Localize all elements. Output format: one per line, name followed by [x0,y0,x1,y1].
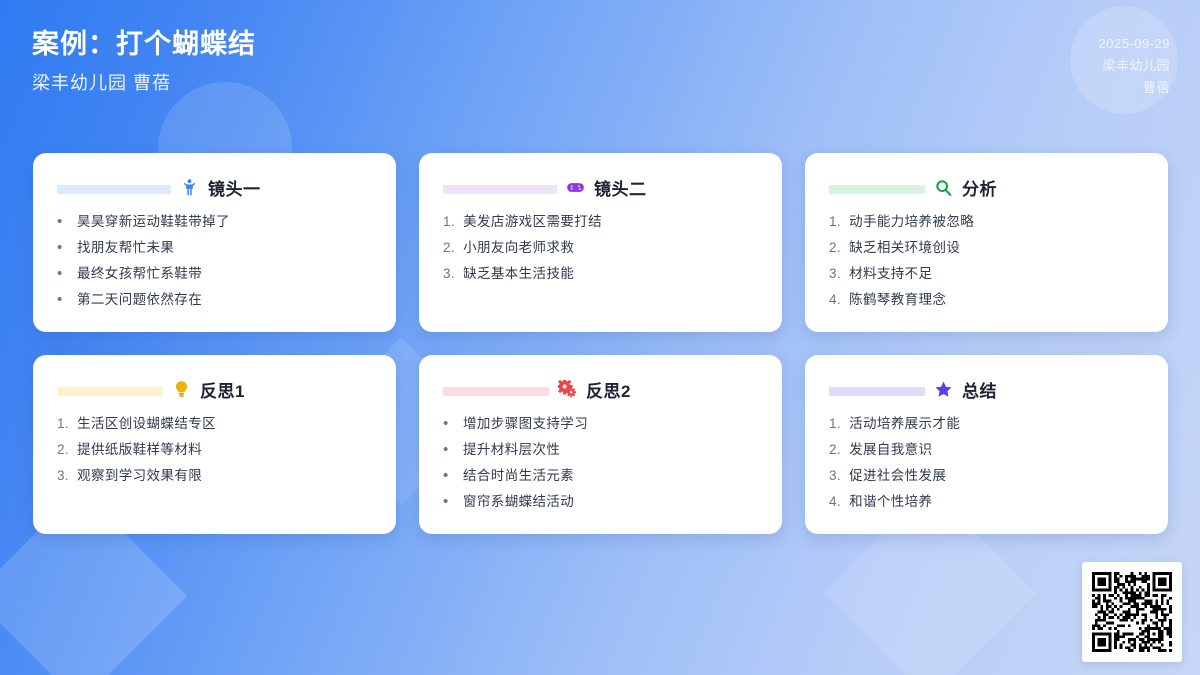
lightbulb-icon [172,380,191,399]
number-marker: 2. [829,442,841,458]
list-item-text: 和谐个性培养 [849,494,932,510]
card-title-highlight [57,185,171,194]
card-反思2: 反思2•增加步骤图支持学习•提升材料层次性•结合时尚生活元素•窗帘系蝴蝶结活动 [419,355,782,534]
bullet-marker: • [443,442,455,458]
card-title: 反思2 [586,377,631,402]
card-list: 1.活动培养展示才能2.发展自我意识3.促进社会性发展4.和谐个性培养 [829,416,1144,510]
list-item: 2.缺乏相关环境创设 [829,240,1144,256]
star-icon [934,380,953,399]
list-item-text: 活动培养展示才能 [849,416,960,432]
list-item-text: 发展自我意识 [849,442,932,458]
list-item: •最终女孩帮忙系鞋带 [57,266,372,282]
card-title: 反思1 [200,377,245,402]
header-meta: 2025-09-29 梁丰幼儿园 曹蓓 [1099,33,1171,99]
bullet-marker: • [57,292,69,308]
list-item: 2.提供纸版鞋样等材料 [57,442,372,458]
list-item-text: 小朋友向老师求救 [463,240,574,256]
card-镜头一: 镜头一•昊昊穿新运动鞋鞋带掉了•找朋友帮忙未果•最终女孩帮忙系鞋带•第二天问题依… [33,153,396,332]
list-item-text: 观察到学习效果有限 [77,468,202,484]
bullet-marker: • [57,266,69,282]
meta-author: 曹蓓 [1099,77,1171,99]
list-item: 3.观察到学习效果有限 [57,468,372,484]
list-item: 2.发展自我意识 [829,442,1144,458]
card-list: 1.美发店游戏区需要打结2.小朋友向老师求救3.缺乏基本生活技能 [443,214,758,282]
number-marker: 1. [443,214,455,230]
bullet-marker: • [443,494,455,510]
card-list: •增加步骤图支持学习•提升材料层次性•结合时尚生活元素•窗帘系蝴蝶结活动 [443,416,758,510]
list-item: 1.美发店游戏区需要打结 [443,214,758,230]
list-item-text: 第二天问题依然存在 [77,292,202,308]
card-header: 反思1 [57,377,372,402]
card-title: 镜头二 [594,175,647,200]
list-item-text: 找朋友帮忙未果 [77,240,174,256]
list-item: •提升材料层次性 [443,442,758,458]
list-item-text: 陈鹤琴教育理念 [849,292,946,308]
list-item: •昊昊穿新运动鞋鞋带掉了 [57,214,372,230]
list-item: 3.促进社会性发展 [829,468,1144,484]
card-header: 反思2 [443,377,758,402]
bullet-marker: • [57,240,69,256]
bullet-marker: • [57,214,69,230]
list-item: 3.材料支持不足 [829,266,1144,282]
gears-icon [558,380,577,399]
list-item: 4.陈鹤琴教育理念 [829,292,1144,308]
list-item-text: 生活区创设蝴蝶结专区 [77,416,216,432]
bullet-marker: • [443,468,455,484]
card-header: 分析 [829,175,1144,200]
list-item: •窗帘系蝴蝶结活动 [443,494,758,510]
card-反思1: 反思11.生活区创设蝴蝶结专区2.提供纸版鞋样等材料3.观察到学习效果有限 [33,355,396,534]
list-item-text: 促进社会性发展 [849,468,946,484]
list-item: 2.小朋友向老师求救 [443,240,758,256]
list-item: 1.生活区创设蝴蝶结专区 [57,416,372,432]
card-list: •昊昊穿新运动鞋鞋带掉了•找朋友帮忙未果•最终女孩帮忙系鞋带•第二天问题依然存在 [57,214,372,308]
child-person-icon [180,178,199,197]
slide-canvas: 案例：打个蝴蝶结 梁丰幼儿园 曹蓓 2025-09-29 梁丰幼儿园 曹蓓 镜头… [0,0,1200,675]
card-header: 镜头二 [443,175,758,200]
page-title: 案例：打个蝴蝶结 [32,26,256,62]
list-item-text: 材料支持不足 [849,266,932,282]
card-header: 镜头一 [57,175,372,200]
list-item-text: 缺乏基本生活技能 [463,266,574,282]
slide-header: 案例：打个蝴蝶结 梁丰幼儿园 曹蓓 2025-09-29 梁丰幼儿园 曹蓓 [0,0,1200,150]
card-title-highlight [829,185,925,194]
list-item-text: 美发店游戏区需要打结 [463,214,602,230]
list-item: 1.动手能力培养被忽略 [829,214,1144,230]
number-marker: 2. [829,240,841,256]
number-marker: 1. [829,214,841,230]
gamepad-icon [566,178,585,197]
number-marker: 3. [57,468,69,484]
list-item-text: 提供纸版鞋样等材料 [77,442,202,458]
meta-date: 2025-09-29 [1099,33,1171,55]
card-title-highlight [829,387,925,396]
qr-code-container[interactable] [1082,562,1182,662]
number-marker: 2. [57,442,69,458]
card-header: 总结 [829,377,1144,402]
magnifier-search-icon [934,178,953,197]
list-item-text: 结合时尚生活元素 [463,468,574,484]
card-title: 总结 [962,377,997,402]
list-item: 3.缺乏基本生活技能 [443,266,758,282]
number-marker: 3. [829,468,841,484]
card-title: 镜头一 [208,175,261,200]
number-marker: 3. [443,266,455,282]
list-item: •增加步骤图支持学习 [443,416,758,432]
bullet-marker: • [443,416,455,432]
number-marker: 4. [829,494,841,510]
number-marker: 3. [829,266,841,282]
list-item-text: 最终女孩帮忙系鞋带 [77,266,202,282]
list-item-text: 昊昊穿新运动鞋鞋带掉了 [77,214,230,230]
list-item-text: 增加步骤图支持学习 [463,416,588,432]
list-item: •第二天问题依然存在 [57,292,372,308]
list-item: •找朋友帮忙未果 [57,240,372,256]
card-title-highlight [443,185,557,194]
card-title-highlight [57,387,163,396]
number-marker: 1. [57,416,69,432]
card-list: 1.生活区创设蝴蝶结专区2.提供纸版鞋样等材料3.观察到学习效果有限 [57,416,372,484]
title-block: 案例：打个蝴蝶结 梁丰幼儿园 曹蓓 [32,26,256,98]
card-分析: 分析1.动手能力培养被忽略2.缺乏相关环境创设3.材料支持不足4.陈鹤琴教育理念 [805,153,1168,332]
number-marker: 4. [829,292,841,308]
list-item: 1.活动培养展示才能 [829,416,1144,432]
card-总结: 总结1.活动培养展示才能2.发展自我意识3.促进社会性发展4.和谐个性培养 [805,355,1168,534]
number-marker: 1. [829,416,841,432]
list-item: 4.和谐个性培养 [829,494,1144,510]
list-item-text: 缺乏相关环境创设 [849,240,960,256]
qr-code-image [1092,572,1172,652]
card-title-highlight [443,387,549,396]
page-subtitle: 梁丰幼儿园 曹蓓 [32,68,256,98]
card-grid: 镜头一•昊昊穿新运动鞋鞋带掉了•找朋友帮忙未果•最终女孩帮忙系鞋带•第二天问题依… [33,153,1168,534]
card-title: 分析 [962,175,997,200]
number-marker: 2. [443,240,455,256]
list-item-text: 提升材料层次性 [463,442,560,458]
list-item: •结合时尚生活元素 [443,468,758,484]
card-list: 1.动手能力培养被忽略2.缺乏相关环境创设3.材料支持不足4.陈鹤琴教育理念 [829,214,1144,308]
card-镜头二: 镜头二1.美发店游戏区需要打结2.小朋友向老师求救3.缺乏基本生活技能 [419,153,782,332]
list-item-text: 动手能力培养被忽略 [849,214,974,230]
meta-organization: 梁丰幼儿园 [1099,55,1171,77]
list-item-text: 窗帘系蝴蝶结活动 [463,494,574,510]
